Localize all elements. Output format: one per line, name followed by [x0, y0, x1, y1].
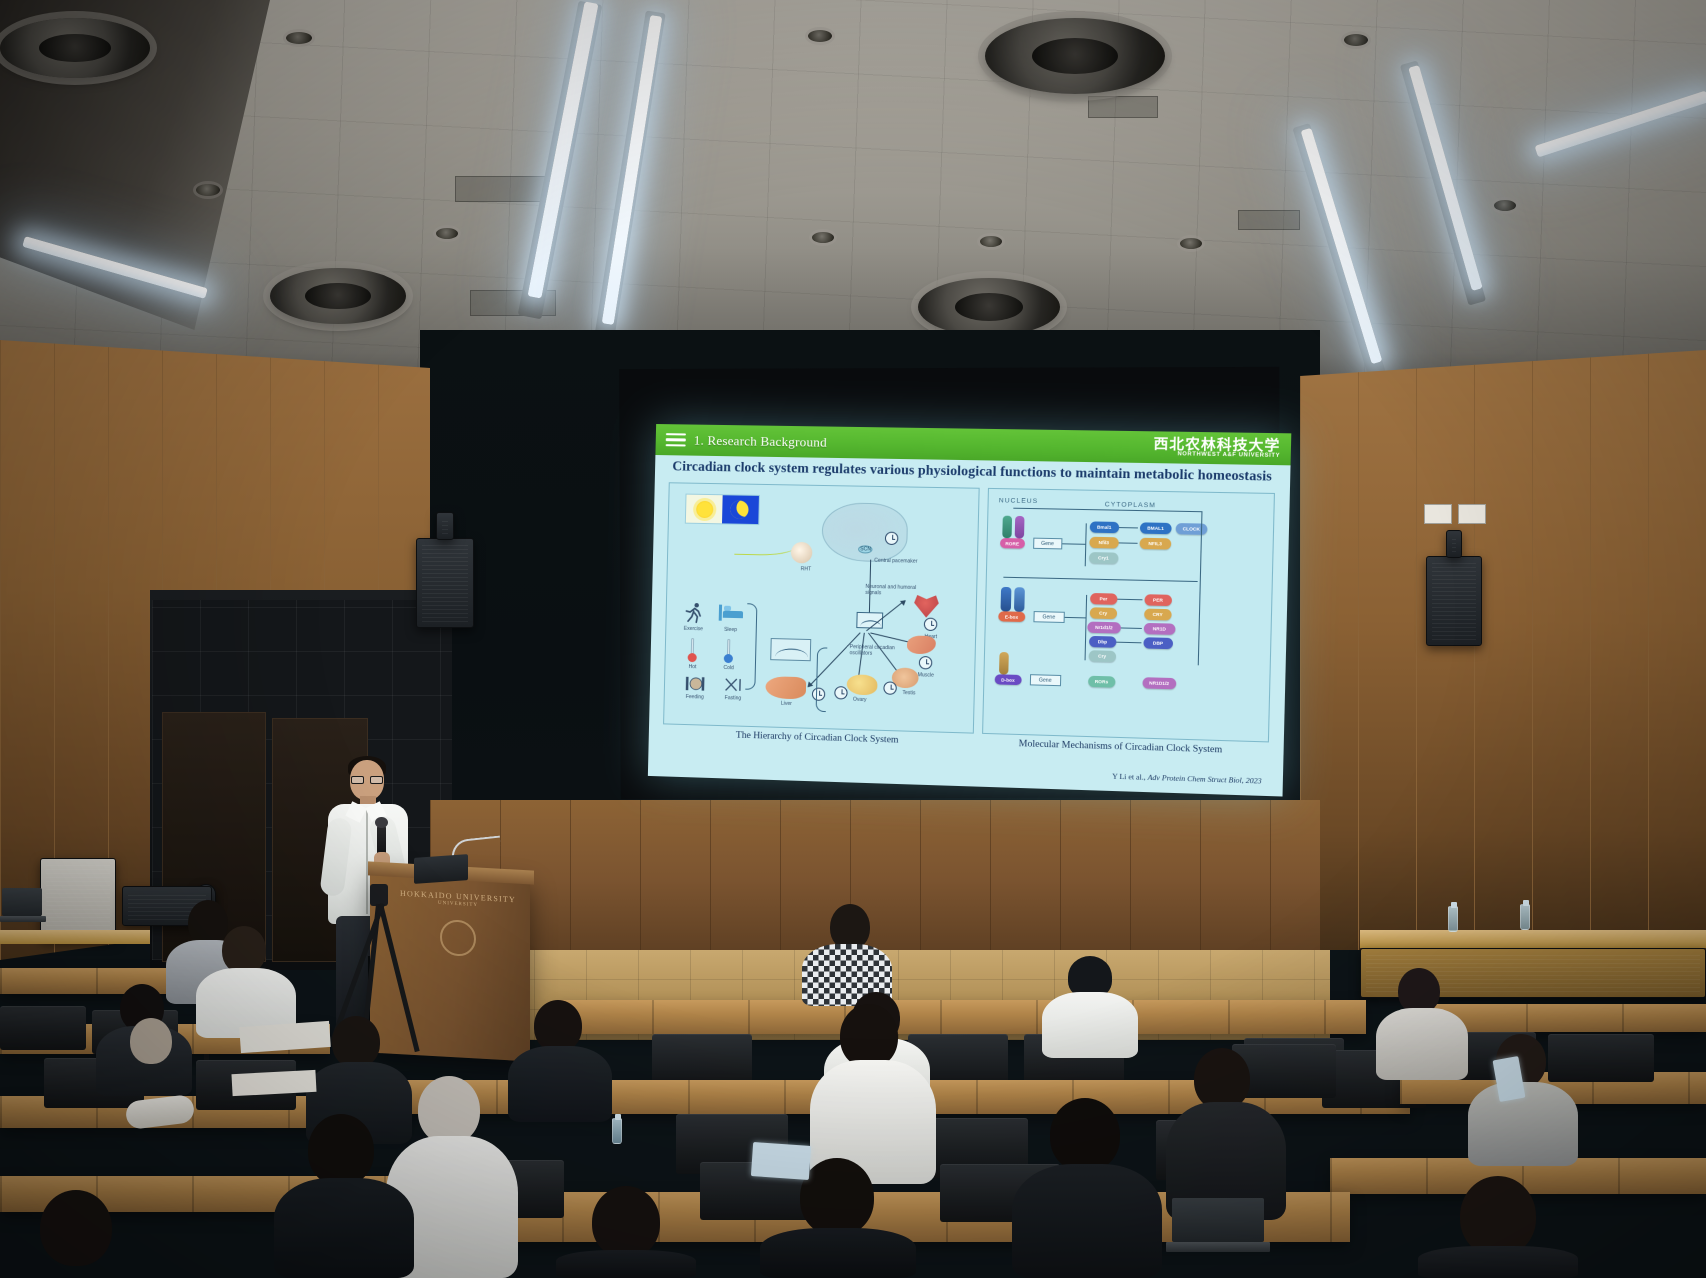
- label-ovary: Ovary: [844, 696, 875, 703]
- connector: [1121, 627, 1142, 629]
- audience-member-foreground: [1012, 1098, 1162, 1278]
- muscle-organ-icon: [907, 635, 936, 654]
- node-per-protein: PER: [1144, 594, 1172, 606]
- audience-member: [1376, 968, 1468, 1078]
- stimuli-brace: [745, 603, 757, 690]
- audience-head: [418, 1076, 480, 1144]
- node-cry1-mrna: Cry1: [1089, 552, 1119, 564]
- node-cry-mrna: Cry: [1089, 607, 1116, 619]
- seat-row-1: [556, 1000, 1366, 1034]
- audience-member-foreground: [1418, 1176, 1578, 1278]
- ceiling-sprinkler: [196, 184, 220, 196]
- label-sleep: Sleep: [714, 627, 746, 634]
- label-testis: Testis: [893, 690, 924, 697]
- exercise-icon: [682, 602, 705, 625]
- audience-head: [840, 1004, 898, 1068]
- label-peripheral-oscillators: Peripheral circadian oscillators: [849, 644, 904, 658]
- connector: [1064, 617, 1085, 619]
- bmal1-dimer-rod: [1000, 587, 1011, 612]
- hub-arrow: [870, 632, 912, 643]
- audience-torso: [1376, 1008, 1468, 1080]
- paper-sheet: [231, 1070, 316, 1096]
- water-bottle: [1448, 906, 1458, 932]
- label-nucleus: NUCLEUS: [999, 497, 1039, 505]
- citation-authors: Y Li et al.,: [1112, 772, 1146, 782]
- front-left-equipment-case: [40, 858, 116, 940]
- audience-member-foreground: [1166, 1048, 1286, 1220]
- figure-molecular-panel: NUCLEUS CYTOPLASM RORE Gene Bmal1 Nfil3 …: [982, 488, 1275, 743]
- connector: [1119, 527, 1138, 528]
- audience-member: [196, 926, 296, 1036]
- audience-head: [40, 1190, 112, 1266]
- clock-icon: [924, 618, 938, 632]
- day-half: [686, 495, 723, 524]
- seat-back: [0, 1006, 86, 1050]
- front-left-laptop: [0, 888, 46, 928]
- tablet-screen[interactable]: [751, 1142, 811, 1180]
- feeding-icon: [685, 676, 705, 691]
- gene-box-third: Gene: [1030, 674, 1061, 686]
- label-feeding: Feeding: [677, 694, 713, 701]
- clock-icon: [919, 656, 933, 670]
- ceiling-sprinkler: [1344, 34, 1368, 46]
- audience-member-foreground: [274, 1114, 414, 1278]
- caption-left: The Hierarchy of Circadian Clock System: [663, 728, 974, 756]
- bed-mattress: [723, 611, 743, 619]
- audience-torso: [274, 1178, 414, 1278]
- audience-head: [130, 1018, 172, 1064]
- label-neuronal-humoral: Neuronal and humoral signals: [865, 584, 918, 598]
- node-nfil3-mrna: Nfil3: [1089, 537, 1119, 549]
- ceiling-sprinkler: [808, 30, 832, 42]
- liver-organ-icon: [765, 676, 806, 699]
- audience-member: [508, 1000, 612, 1120]
- label-central-pacemaker: Central pacemaker: [874, 558, 917, 565]
- node-clock-protein: CLOCK: [1175, 523, 1207, 535]
- slide-citation: Y Li et al., Adv Protein Chem Struct Bio…: [1112, 772, 1262, 786]
- label-cytoplasm: CYTOPLASM: [1105, 501, 1156, 509]
- audience-torso: [760, 1228, 916, 1278]
- figure-hierarchy-panel: RHT SCN Central pacemaker Neuronal and h…: [663, 482, 979, 733]
- ceiling-speaker-vent: [918, 278, 1060, 336]
- label-cold: Cold: [713, 665, 743, 672]
- ceiling-sprinkler: [1180, 238, 1202, 249]
- ceiling-access-panel: [1238, 210, 1300, 230]
- audience-torso: [508, 1046, 612, 1122]
- hamburger-icon: [666, 433, 686, 447]
- audience-member-foreground: [556, 1186, 696, 1278]
- audience-head: [1050, 1098, 1120, 1172]
- podium-laptop: [414, 854, 468, 884]
- label-hot: Hot: [677, 664, 707, 671]
- front-left-table: [0, 930, 150, 944]
- presentation-slide: 1. Research Background 西北农林科技大学 NORTHWES…: [648, 424, 1291, 797]
- audience-member: [1468, 1034, 1578, 1164]
- ceiling-speaker-vent: [0, 18, 150, 78]
- audience-member-foreground: [810, 1004, 936, 1184]
- node-nr1d-protein: NR1D: [1143, 623, 1175, 635]
- node-rors: RORs: [1088, 676, 1115, 688]
- sleep-icon: [719, 605, 744, 622]
- bed-post: [719, 605, 722, 621]
- ceiling-sprinkler: [980, 236, 1002, 247]
- ror-protein-rod: [1002, 516, 1012, 539]
- speaker-mount-bracket: [1446, 530, 1462, 558]
- audience-torso: [1042, 992, 1138, 1058]
- dbox-protein-rod: [999, 652, 1009, 675]
- ceiling-access-panel: [1088, 96, 1158, 118]
- seat-row-right-1: [1430, 1004, 1706, 1032]
- node-dbp-protein: DBP: [1143, 637, 1173, 649]
- node-bmal1-mrna: Bmal1: [1089, 521, 1119, 533]
- node-dbp-mrna: Dbp: [1089, 636, 1116, 648]
- eye-icon: [791, 542, 813, 564]
- left-wall-speaker: [416, 538, 474, 628]
- audience-laptop[interactable]: [1166, 1198, 1270, 1256]
- feedback-line-mid: [1003, 577, 1197, 582]
- node-ebox: E-box: [998, 611, 1025, 622]
- audience-member: [1042, 956, 1138, 1056]
- slide-section-label: 1. Research Background: [694, 432, 827, 450]
- wall-outlet-plate: [1424, 504, 1452, 524]
- peripheral-brace: [816, 647, 828, 712]
- entrainment-signal-box: [770, 638, 811, 661]
- bed-pillow: [724, 606, 731, 611]
- node-nr1d12b: NR1D1/2: [1142, 677, 1176, 689]
- heart-organ-icon: [914, 593, 939, 618]
- connector: [1062, 543, 1085, 544]
- audience-head: [222, 926, 266, 974]
- university-name-en: NORTHWEST A&F UNIVERSITY: [1153, 452, 1280, 460]
- node-cry2-mrna: Cry: [1088, 650, 1115, 662]
- audience-head: [592, 1186, 660, 1258]
- day-night-icon: [685, 494, 760, 526]
- audience-head: [332, 1016, 380, 1068]
- right-wood-wall: [1300, 350, 1706, 950]
- citation-source: Adv Protein Chem Struct Biol, 2023: [1147, 773, 1261, 786]
- right-front-table: [1360, 930, 1706, 948]
- ceiling-speaker-vent: [985, 18, 1165, 94]
- audience-head: [800, 1158, 874, 1236]
- connector: [1116, 642, 1141, 644]
- university-logo: 西北农林科技大学 NORTHWEST A&F UNIVERSITY: [1153, 437, 1280, 460]
- laptop-lid: [1172, 1198, 1264, 1242]
- thermometer-bulb: [688, 653, 697, 662]
- label-liver: Liver: [769, 700, 804, 707]
- ceiling-sprinkler: [436, 228, 458, 239]
- audience-member-foreground: [0, 1190, 150, 1278]
- audience-torso: [556, 1250, 696, 1278]
- clock-dimer-rod: [1014, 587, 1025, 612]
- right-wall-speaker: [1426, 556, 1482, 646]
- slide-figure-panels: RHT SCN Central pacemaker Neuronal and h…: [663, 482, 1275, 742]
- label-exercise: Exercise: [676, 626, 710, 633]
- node-per-mrna: Per: [1090, 593, 1117, 605]
- gene-box-upper: Gene: [1033, 538, 1062, 550]
- audience-member: [802, 904, 892, 1004]
- connector: [1118, 542, 1137, 543]
- water-bottle: [612, 1118, 622, 1144]
- audience-head: [308, 1114, 374, 1186]
- hot-thermometer-icon: [688, 638, 698, 662]
- lecture-hall-photo: 1. Research Background 西北农林科技大学 NORTHWES…: [0, 0, 1706, 1278]
- laptop-lid: [2, 888, 42, 916]
- node-cry-protein: CRY: [1144, 609, 1172, 621]
- ceiling-sprinkler: [1494, 200, 1516, 211]
- node-dbox: D-box: [994, 674, 1021, 685]
- ceiling-sprinkler: [286, 32, 312, 44]
- audience-head: [1194, 1048, 1250, 1110]
- rht-pathway-line: [734, 537, 797, 556]
- node-nr1d12-mrna: Nr1d1/2: [1087, 622, 1121, 634]
- cold-thermometer-icon: [724, 639, 734, 663]
- moon-icon: [730, 500, 749, 518]
- audience-head: [1460, 1176, 1536, 1256]
- connector: [1117, 599, 1142, 601]
- label-scn: SCN: [860, 546, 871, 552]
- thermometer-bulb: [724, 654, 733, 663]
- node-nfil3-protein: NFIL3: [1139, 538, 1171, 550]
- label-rht: RHT: [801, 566, 812, 572]
- laptop-base: [0, 916, 46, 922]
- night-half: [722, 495, 759, 524]
- gene-box-lower: Gene: [1033, 611, 1064, 623]
- ovary-organ-icon: [847, 674, 878, 695]
- node-rore: RORE: [1000, 538, 1025, 549]
- wall-outlet-plate: [1458, 504, 1486, 524]
- water-bottle: [1520, 904, 1530, 930]
- sun-icon: [696, 500, 713, 517]
- projection-screen: 1. Research Background 西北农林科技大学 NORTHWES…: [648, 424, 1291, 797]
- caption-right: Molecular Mechanisms of Circadian Clock …: [973, 738, 1269, 765]
- audience-torso: [1418, 1246, 1578, 1278]
- audience-torso: [1012, 1164, 1162, 1278]
- label-fasting: Fasting: [715, 695, 751, 702]
- audience-head: [534, 1000, 582, 1052]
- ceiling-sprinkler: [812, 232, 834, 243]
- fasting-icon: [723, 677, 743, 692]
- node-bmal1-protein: BMAL1: [1140, 522, 1172, 534]
- glasses-icon: [351, 776, 383, 784]
- speaker-mount-bracket: [436, 512, 454, 540]
- nr1d-protein-rod: [1014, 516, 1024, 539]
- laptop-base: [1166, 1242, 1270, 1252]
- ceiling-access-panel: [455, 176, 547, 202]
- ceiling-speaker-vent: [270, 268, 406, 324]
